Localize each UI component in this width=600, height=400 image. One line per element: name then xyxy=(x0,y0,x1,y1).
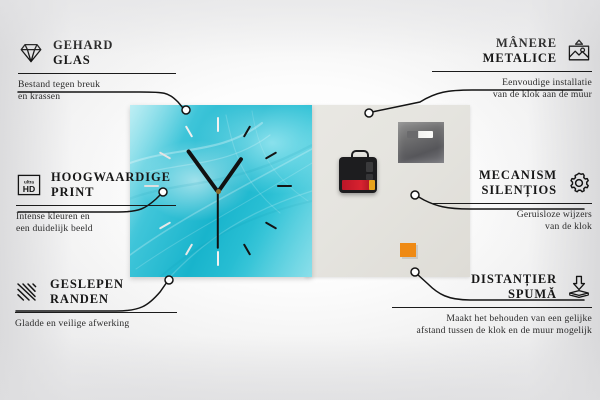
callout-hoogwaardige-print[interactable]: ultra HD HOOGWAARDIGE PRINT Intense kleu… xyxy=(16,170,176,236)
callout-subtitle: Intense kleuren en een duidelijk beeld xyxy=(16,211,176,236)
callout-divider xyxy=(16,205,176,206)
callout-header: GEHARD GLAS xyxy=(18,38,176,69)
callout-header: ultra HD HOOGWAARDIGE PRINT xyxy=(16,170,176,201)
callout-divider xyxy=(392,307,592,308)
diamond-icon xyxy=(18,40,44,66)
callout-manere-metalice[interactable]: MÂNERE METALICE Eenvoudige installatie v… xyxy=(432,36,592,102)
callout-title: HOOGWAARDIGE PRINT xyxy=(51,170,171,201)
callout-geslepen-randen[interactable]: GESLEPEN RANDEN Gladde en veilige afwerk… xyxy=(15,277,177,330)
callout-mecanism-silentios[interactable]: MECANISM SILENȚIOS Geruisloze wijzers va… xyxy=(432,168,592,234)
callout-title: MECANISM SILENȚIOS xyxy=(479,168,557,199)
ultra-hd-icon: ultra HD xyxy=(16,172,42,198)
picture-frame-icon xyxy=(566,38,592,64)
callout-divider xyxy=(432,203,592,204)
svg-text:HD: HD xyxy=(23,184,35,194)
callout-title: GEHARD GLAS xyxy=(53,38,113,69)
callout-title: DISTANȚIER SPUMĂ xyxy=(471,272,557,303)
callout-subtitle: Eenvoudige installatie van de klok aan d… xyxy=(432,77,592,102)
callout-distantier-spuma[interactable]: DISTANȚIER SPUMĂ Maakt het behouden van … xyxy=(392,272,592,338)
callout-subtitle: Gladde en veilige afwerking xyxy=(15,318,177,331)
callout-gehard-glas[interactable]: GEHARD GLAS Bestand tegen breuk en krass… xyxy=(18,38,176,104)
callout-title: GESLEPEN RANDEN xyxy=(50,277,124,308)
gear-icon xyxy=(566,170,592,196)
callout-header: DISTANȚIER SPUMĂ xyxy=(392,272,592,303)
callout-header: GESLEPEN RANDEN xyxy=(15,277,177,308)
callout-subtitle: Maakt het behouden van een gelijke afsta… xyxy=(392,313,592,338)
callout-divider xyxy=(15,312,177,313)
callout-title: MÂNERE METALICE xyxy=(483,36,557,67)
callout-divider xyxy=(18,73,176,74)
callout-subtitle: Geruisloze wijzers van de klok xyxy=(432,209,592,234)
spacer-arrow-icon xyxy=(566,274,592,300)
bevel-edges-icon xyxy=(15,279,41,305)
callout-divider xyxy=(432,71,592,72)
callout-header: MECANISM SILENȚIOS xyxy=(432,168,592,199)
callout-subtitle: Bestand tegen breuk en krassen xyxy=(18,79,176,104)
infographic-canvas: GEHARD GLAS Bestand tegen breuk en krass… xyxy=(0,0,600,400)
callout-header: MÂNERE METALICE xyxy=(432,36,592,67)
